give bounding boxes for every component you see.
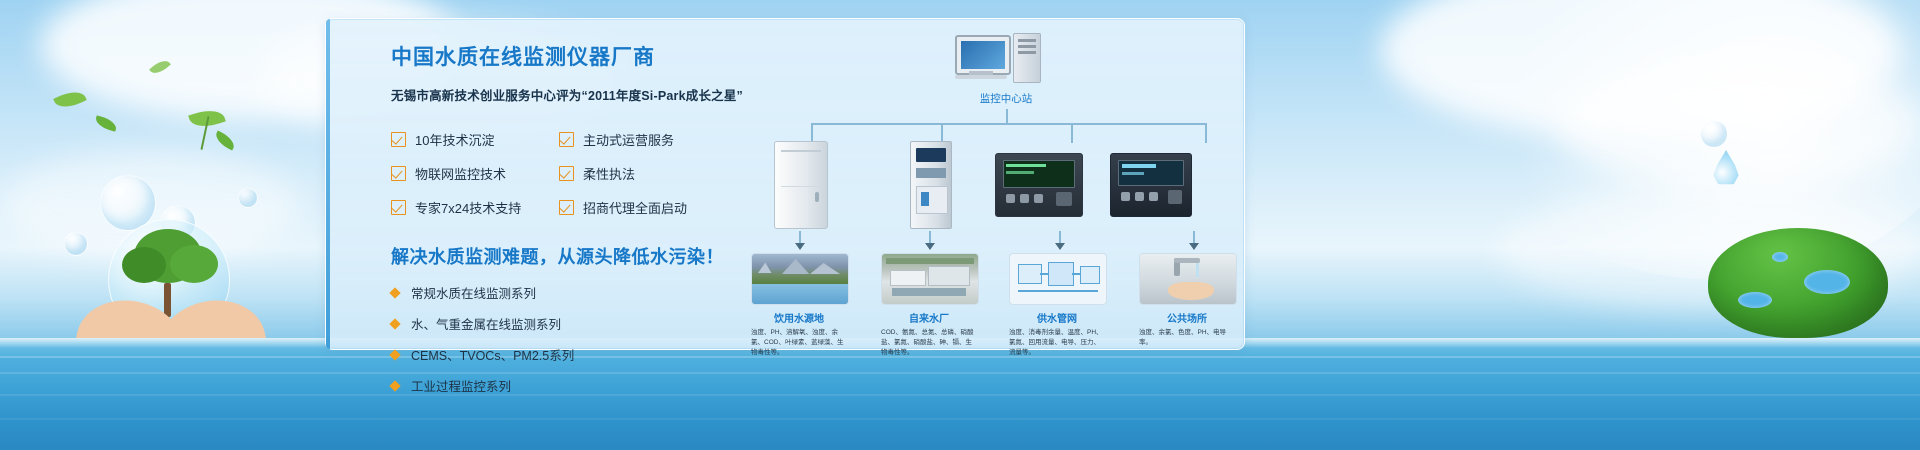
scene-description: 浊度、PH、溶解氧、浊度、余氯、COD、叶绿素、蓝绿藻、生物毒性等。 xyxy=(751,328,847,357)
diamond-bullet-icon xyxy=(389,349,400,360)
center-station-label: 监控中心站 xyxy=(931,91,1081,106)
scene-caption: 饮用水源地 xyxy=(751,310,847,325)
connector-lines xyxy=(793,109,1219,143)
scene-caption: 自来水厂 xyxy=(881,310,977,325)
lake-shape xyxy=(1804,270,1850,294)
monitoring-computer-icon xyxy=(931,33,1081,87)
checklist-label: 柔性执法 xyxy=(583,164,635,183)
scene-description: COD、氨氮、总氮、总磷、硝酸盐、氯氮、硝酸盐、砷、镉、生物毒性等。 xyxy=(881,328,977,357)
scene-card: 饮用水源地 浊度、PH、溶解氧、浊度、余氯、COD、叶绿素、蓝绿藻、生物毒性等。 xyxy=(751,253,847,357)
arrow-down-head xyxy=(795,243,805,250)
scene-caption: 供水管网 xyxy=(1009,310,1105,325)
checklist-item: 柔性执法 xyxy=(559,164,771,183)
list-item-label: CEMS、TVOCs、PM2.5系列 xyxy=(411,345,574,364)
river-mountain-photo xyxy=(751,253,849,305)
checkbox-checked-icon xyxy=(391,132,406,147)
diamond-bullet-icon xyxy=(389,380,400,391)
diamond-bullet-icon xyxy=(389,287,400,298)
water-plant-photo xyxy=(881,253,979,305)
list-item-label: 常规水质在线监测系列 xyxy=(411,283,536,302)
faucet-hands-photo xyxy=(1139,253,1237,305)
scene-description: 浊度、消毒剂余量、温度、PH、氯氮、回用流量、电导、压力、流量等。 xyxy=(1009,328,1105,357)
rack-analyzer-device xyxy=(883,141,979,229)
pipeline-diagram-photo xyxy=(1009,253,1107,305)
digital-controller-device xyxy=(1103,153,1199,217)
diamond-bullet-icon xyxy=(389,318,400,329)
scene-card: 供水管网 浊度、消毒剂余量、温度、PH、氯氮、回用流量、电导、压力、流量等。 xyxy=(1009,253,1105,357)
scene-card: 公共场所 浊度、余氯、色度、PH、电导率。 xyxy=(1139,253,1235,348)
list-item: 常规水质在线监测系列 xyxy=(391,283,771,302)
scene-description: 浊度、余氯、色度、PH、电导率。 xyxy=(1139,328,1235,348)
page-subtitle: 无锡市高新技术创业服务中心评为“2011年度Si-Park成长之星” xyxy=(391,85,771,104)
list-item: 水、气重金属在线监测系列 xyxy=(391,314,771,333)
list-item: CEMS、TVOCs、PM2.5系列 xyxy=(391,345,771,364)
list-item-label: 工业过程监控系列 xyxy=(411,376,511,395)
checkbox-checked-icon xyxy=(559,200,574,215)
checklist-item: 专家7x24技术支持 xyxy=(391,198,559,217)
list-item: 工业过程监控系列 xyxy=(391,376,771,395)
monitor-screen xyxy=(955,35,1011,75)
content-panel: 中国水质在线监测仪器厂商 无锡市高新技术创业服务中心评为“2011年度Si-Pa… xyxy=(325,18,1245,350)
tree-trunk xyxy=(164,283,171,317)
bubble-decoration xyxy=(1700,120,1728,148)
cabinet-analyzer-device xyxy=(753,141,849,229)
lake-shape xyxy=(1738,292,1772,308)
page-title: 中国水质在线监测仪器厂商 xyxy=(391,41,771,71)
monitor-base xyxy=(955,75,1007,79)
tree-canopy xyxy=(122,247,166,283)
monitoring-center-node: 监控中心站 xyxy=(931,33,1081,106)
arrow-down-head xyxy=(1055,243,1065,250)
earth-ball xyxy=(1708,228,1888,338)
device-row xyxy=(781,141,1231,241)
arrow-down-head xyxy=(1189,243,1199,250)
tree-canopy xyxy=(170,245,218,283)
lake-shape xyxy=(1772,252,1788,262)
product-series-list: 常规水质在线监测系列 水、气重金属在线监测系列 CEMS、TVOCs、PM2.5… xyxy=(391,283,771,395)
checkbox-checked-icon xyxy=(559,166,574,181)
section-title: 解决水质监测难题，从源头降低水污染！ xyxy=(391,243,771,269)
list-item-label: 水、气重金属在线监测系列 xyxy=(411,314,561,333)
checklist-label: 主动式运营服务 xyxy=(583,130,674,149)
left-content-column: 中国水质在线监测仪器厂商 无锡市高新技术创业服务中心评为“2011年度Si-Pa… xyxy=(391,41,771,407)
scene-card: 自来水厂 COD、氨氮、总氮、总磷、硝酸盐、氯氮、硝酸盐、砷、镉、生物毒性等。 xyxy=(881,253,977,357)
leaf-decoration xyxy=(94,115,118,131)
checklist-item: 物联网监控技术 xyxy=(391,164,559,183)
system-diagram: 监控中心站 xyxy=(781,31,1231,341)
checklist-label: 物联网监控技术 xyxy=(415,164,506,183)
leaf-decoration xyxy=(213,130,238,150)
checkbox-checked-icon xyxy=(559,132,574,147)
scene-caption: 公共场所 xyxy=(1139,310,1235,325)
checklist-label: 招商代理全面启动 xyxy=(583,198,687,217)
checklist-label: 10年技术沉淀 xyxy=(415,130,494,149)
banner-stage: 中国水质在线监测仪器厂商 无锡市高新技术创业服务中心评为“2011年度Si-Pa… xyxy=(0,0,1920,450)
pc-tower xyxy=(1013,33,1041,83)
feature-checklist: 10年技术沉淀 主动式运营服务 物联网监控技术 柔性执法 专家7x24技术支持 … xyxy=(391,130,771,217)
checklist-item: 10年技术沉淀 xyxy=(391,130,559,149)
cloud-shape xyxy=(1560,60,1920,190)
checklist-label: 专家7x24技术支持 xyxy=(415,198,521,217)
checkbox-checked-icon xyxy=(391,166,406,181)
checklist-item: 主动式运营服务 xyxy=(559,130,771,149)
arrow-down-head xyxy=(925,243,935,250)
checklist-item: 招商代理全面启动 xyxy=(559,198,771,217)
green-earth-globe xyxy=(1708,218,1888,346)
panel-controller-device xyxy=(991,153,1087,217)
checkbox-checked-icon xyxy=(391,200,406,215)
